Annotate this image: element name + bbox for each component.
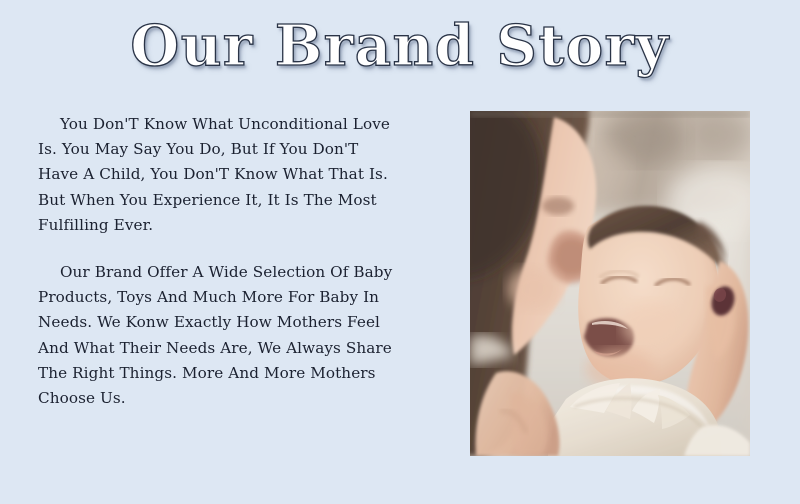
paragraph-2: Our Brand Offer A Wide Selection Of Baby…	[38, 260, 398, 411]
page-title-container: Our Brand Story	[0, 14, 800, 78]
mother-kissing-baby-photo	[470, 111, 750, 456]
paragraph-1: You Don'T Know What Unconditional Love I…	[38, 112, 398, 238]
brand-story-copy: You Don'T Know What Unconditional Love I…	[38, 112, 398, 411]
brand-story-page: Our Brand Story You Don'T Know What Unco…	[0, 0, 800, 504]
page-title: Our Brand Story	[130, 14, 669, 78]
